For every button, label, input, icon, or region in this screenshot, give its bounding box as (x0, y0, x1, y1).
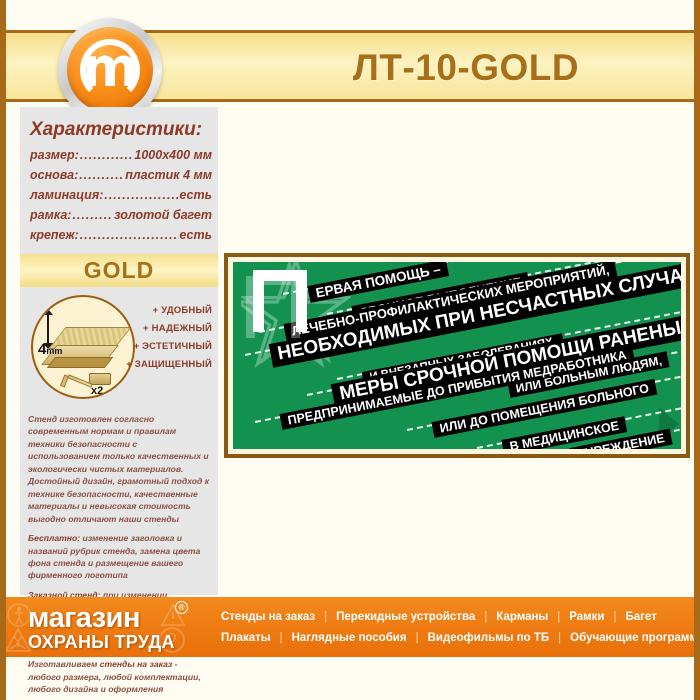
spec-row: основа: ................................… (30, 168, 212, 182)
footer-nav-item[interactable]: Плакаты (212, 632, 280, 644)
benefit-item: + ЗАЩИЩЕННЫЙ (126, 359, 212, 370)
description-text: Изготавливаем (28, 659, 100, 669)
left-info-column: Характеристики: размер: ................… (20, 107, 218, 595)
moulding-side-face (47, 357, 114, 368)
spec-dots: ........................................… (79, 168, 124, 182)
footer-nav-item[interactable]: Карманы (487, 611, 557, 623)
spec-value: есть (179, 228, 212, 242)
benefit-item: + НАДЕЖНЫЙ (126, 323, 212, 334)
spec-label: рамка: (30, 208, 71, 222)
benefits-list: + УДОБНЫЙ + НАДЕЖНЫЙ + ЭСТЕТИЧНЫЙ + ЗАЩИ… (126, 305, 212, 377)
description-lead: Бесплатно: (28, 533, 80, 543)
screw-count-label: x2 (91, 385, 103, 397)
footer-nav-item[interactable]: Перекидные устройства (327, 611, 484, 623)
footer-nav-row: Стенды на заказ|Перекидные устройства|Ка… (212, 606, 682, 627)
spec-label: крепеж: (30, 228, 79, 242)
frame-illustration-area: 4mm x2 + УДОБНЫЙ + НАДЕЖНЫЙ + ЭСТЕТИЧНЫЙ… (20, 287, 218, 407)
footer-logo-main-text: магазин (28, 602, 140, 634)
spec-row: крепеж: ................................… (30, 228, 212, 242)
footer-logo-main: магазин® (28, 604, 175, 633)
registered-trademark-icon: ® (175, 601, 188, 614)
spec-label: ламинация: (30, 188, 103, 202)
footer-navigation: Стенды на заказ|Перекидные устройства|Ка… (212, 606, 682, 648)
thickness-label: 4mm (38, 341, 62, 358)
footer-nav-item[interactable]: Стенды на заказ (212, 611, 324, 623)
thickness-unit: mm (46, 346, 62, 356)
screw-head-icon (60, 375, 69, 388)
spec-label: основа: (30, 168, 78, 182)
description-paragraph: Изготавливаем стенды на заказ - любого р… (28, 658, 210, 695)
benefit-item: + УДОБНЫЙ (126, 305, 212, 316)
spec-dots: ........................................… (80, 228, 179, 242)
spec-row: ламинация: .............................… (30, 188, 212, 202)
description-paragraph: Бесплатно: изменение заголовка и названи… (28, 532, 210, 582)
footer-bar: магазин® ОХРАНЫ ТРУДА Стенды на заказ|Пе… (0, 597, 700, 657)
spec-row: размер: ................................… (30, 148, 212, 162)
dimension-arrow-top-icon (43, 309, 53, 315)
poster-frame: ЕРВАЯ ПОМОЩЬ –СРОЧНОЕ ВЫПОЛНЕНИЕЛЕЧЕБНО-… (224, 253, 690, 458)
logo-arc-icon (80, 39, 140, 101)
stand-product-page: m ЛТ-10-GOLD Характеристики: размер: ...… (0, 0, 700, 700)
footer-nav-row: Плакаты|Наглядные пособия|Видеофильмы по… (212, 627, 682, 648)
footer-nav-item[interactable]: Наглядные пособия (283, 632, 416, 644)
characteristics-block: Характеристики: размер: ................… (20, 107, 218, 254)
footer-logo-sub: ОХРАНЫ ТРУДА (28, 633, 175, 653)
description-lead: стенды на заказ (100, 659, 172, 669)
spec-value: золотой багет (114, 208, 212, 222)
footer-nav-item[interactable]: Видеофильмы по ТБ (419, 632, 559, 644)
spec-label: размер: (30, 148, 79, 162)
spec-dots: ........................................… (80, 148, 134, 162)
footer-nav-item[interactable]: Багет (616, 611, 665, 623)
spec-dots: ........................................… (104, 188, 178, 202)
spec-value: 1000х400 мм (134, 148, 212, 162)
footer-nav-item[interactable]: Рамки (560, 611, 613, 623)
characteristics-title: Характеристики: (30, 119, 212, 141)
footer-brand-logo: магазин® ОХРАНЫ ТРУДА (28, 604, 175, 653)
page-title: ЛТ-10-GOLD (256, 40, 676, 96)
dropcap-main (253, 270, 307, 332)
footer-nav-item[interactable]: Обучающие программы (561, 632, 700, 644)
dropcap-letter (253, 270, 307, 332)
spec-value: есть (179, 188, 212, 202)
frame-diagram: 4mm x2 (31, 295, 135, 399)
spec-dots: ........................................… (72, 208, 113, 222)
benefit-item: + ЭСТЕТИЧНЫЙ (126, 341, 212, 352)
spec-row: рамка: .................................… (30, 208, 212, 222)
poster-canvas: ЕРВАЯ ПОМОЩЬ –СРОЧНОЕ ВЫПОЛНЕНИЕЛЕЧЕБНО-… (233, 262, 681, 449)
description-paragraph: Стенд изготовлен согласно современным но… (28, 413, 210, 525)
spec-value: пластик 4 мм (125, 168, 212, 182)
gold-band-label: GOLD (20, 254, 218, 287)
